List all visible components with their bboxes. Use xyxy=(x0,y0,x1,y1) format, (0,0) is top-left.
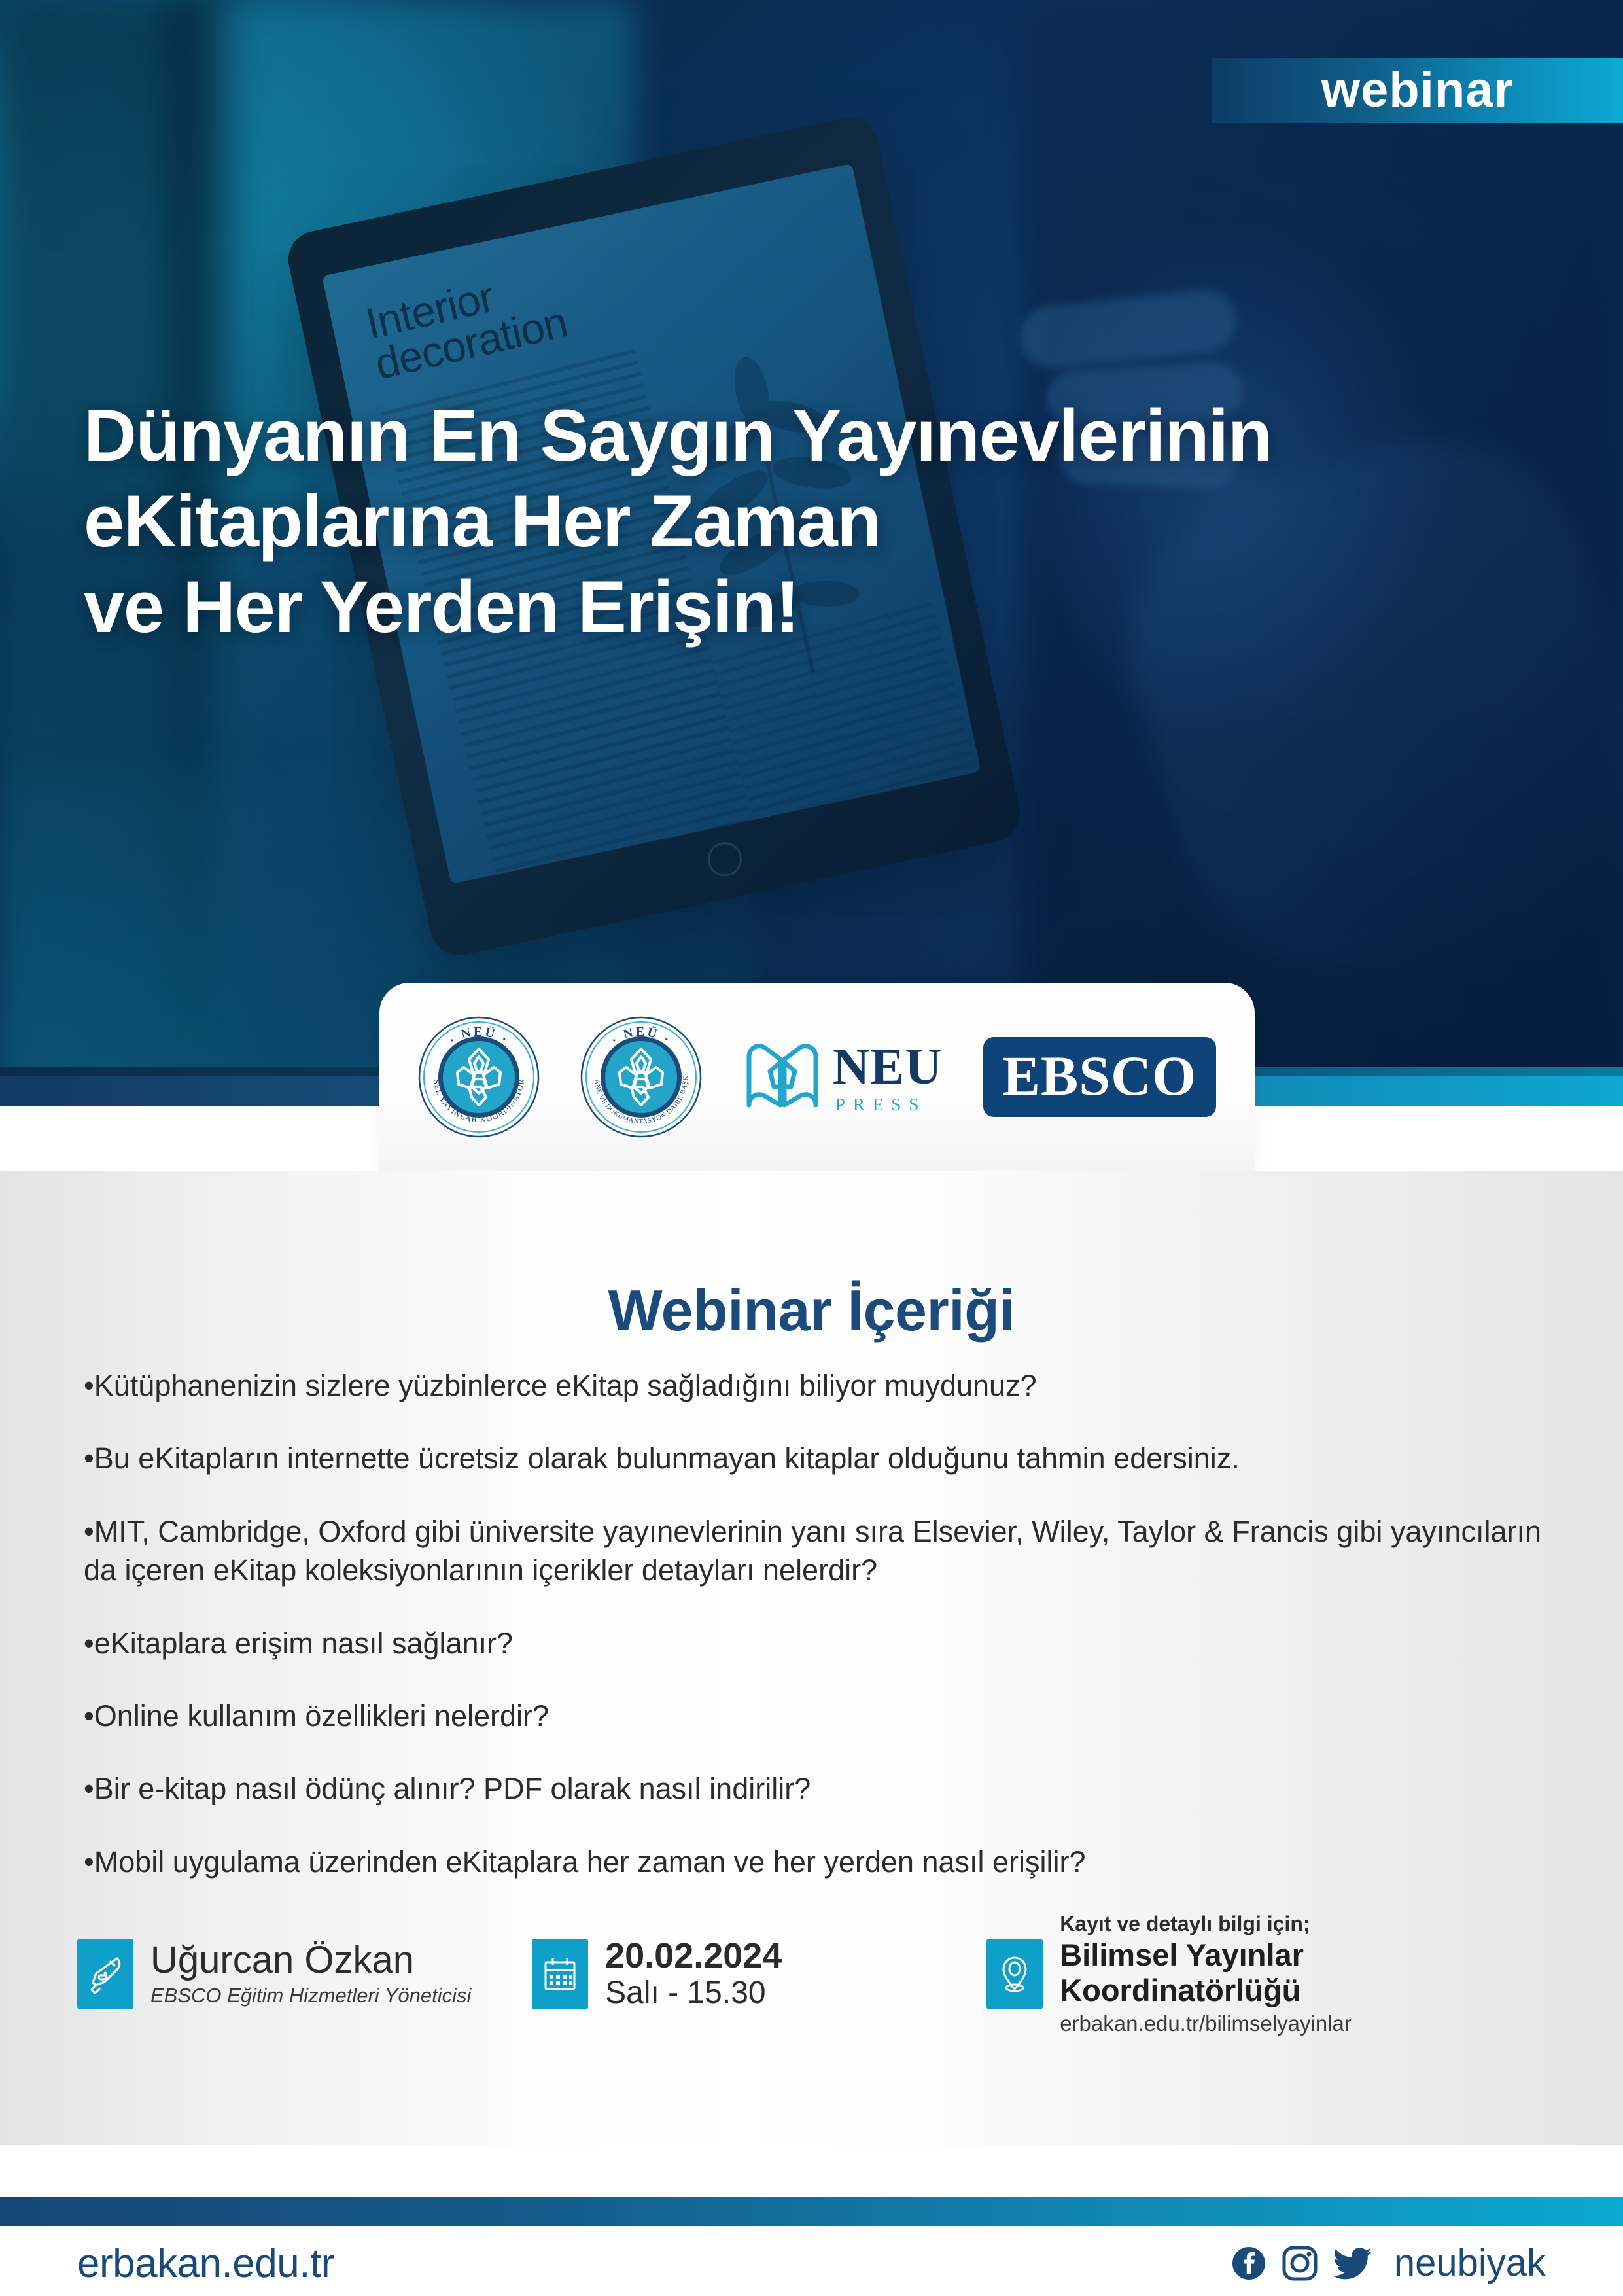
neu-press-name: NEU xyxy=(833,1041,943,1092)
event-time: Salı - 15.30 xyxy=(605,1976,782,2011)
list-item: •Bir e-kitap nasıl ödünç alınır? PDF ola… xyxy=(84,1769,1541,1808)
event-info-row: Uğurcan Özkan EBSCO Eğitim Hizmetleri Yö… xyxy=(77,1918,1549,2030)
facebook-icon[interactable] xyxy=(1230,2245,1267,2282)
list-item: •Mobil uygulama üzerinden eKitaplara her… xyxy=(84,1843,1541,1881)
registration-info: Kayıt ve detaylı bilgi için; Bilimsel Ya… xyxy=(986,1912,1549,2036)
logo-card: · NEÜ · BİLİMSEL YAYINLAR KOORDİNATÖRLÜĞ… xyxy=(379,983,1255,1171)
event-date: 20.02.2024 xyxy=(605,1937,782,1975)
speaker-role: EBSCO Eğitim Hizmetleri Yöneticisi xyxy=(150,1983,471,2007)
webinar-topics-list: •Kütüphanenizin sizlere yüzbinlerce eKit… xyxy=(84,1366,1541,1915)
ebsco-logo: EBSCO xyxy=(983,1037,1217,1117)
neu-press-subtitle: PRESS xyxy=(835,1096,943,1114)
webinar-badge-label: webinar xyxy=(1321,65,1514,115)
page-title: Dünyanın En Saygın Yayınevlerinin eKitap… xyxy=(84,393,1510,650)
registration-url[interactable]: erbakan.edu.tr/bilimselyayinlar xyxy=(1060,2011,1549,2037)
neu-library-documentation-seal: · NEÜ · KÜTÜPHANE VE DOKÜMANTASYON DAİRE… xyxy=(580,1016,702,1138)
registration-label: Kayıt ve detaylı bilgi için; xyxy=(1060,1912,1549,1936)
speaker-name: Uğurcan Özkan xyxy=(150,1941,471,1981)
neu-press-logo: NEU PRESS xyxy=(742,1037,943,1117)
calendar-icon xyxy=(532,1939,588,2009)
headline-line-1: Dünyanın En Saygın Yayınevlerinin xyxy=(84,393,1510,478)
section-title: Webinar İçeriği xyxy=(0,1277,1623,1344)
twitter-icon[interactable] xyxy=(1333,2245,1373,2282)
event-date-info: 20.02.2024 Salı - 15.30 xyxy=(532,1937,986,2010)
hero-section: Interior decoration xyxy=(0,0,1623,1106)
webinar-poster: Interior decoration xyxy=(0,0,1623,2296)
speaker-info: Uğurcan Özkan EBSCO Eğitim Hizmetleri Yö… xyxy=(77,1939,532,2009)
headline-line-3: ve Her Yerden Erişin! xyxy=(84,564,1510,650)
social-links: neubiyak xyxy=(1230,2244,1546,2282)
footer-divider-stripe xyxy=(0,2197,1623,2226)
footer: erbakan.edu.tr neubiyak xyxy=(0,2226,1623,2296)
ebsco-label: EBSCO xyxy=(1003,1048,1197,1104)
instagram-icon[interactable] xyxy=(1282,2245,1318,2282)
neu-scientific-publications-seal: · NEÜ · BİLİMSEL YAYINLAR KOORDİNATÖRLÜĞ… xyxy=(418,1016,540,1138)
list-item: •Online kullanım özellikleri nelerdir? xyxy=(84,1697,1541,1735)
headline-line-2: eKitaplarına Her Zaman xyxy=(84,478,1510,564)
location-pin-icon xyxy=(986,1939,1043,2009)
list-item: •MIT, Cambridge, Oxford gibi üniversite … xyxy=(84,1512,1541,1590)
open-book-icon xyxy=(742,1037,822,1117)
list-item: •Bu eKitapların internette ücretsiz olar… xyxy=(84,1439,1541,1477)
social-handle: neubiyak xyxy=(1394,2244,1546,2282)
registration-org: Bilimsel Yayınlar Koordinatörlüğü xyxy=(1060,1937,1549,2008)
content-section: Webinar İçeriği •Kütüphanenizin sizlere … xyxy=(0,1171,1623,2145)
webinar-badge: webinar xyxy=(1212,58,1623,123)
list-item: •Kütüphanenizin sizlere yüzbinlerce eKit… xyxy=(84,1366,1541,1405)
footer-website[interactable]: erbakan.edu.tr xyxy=(77,2240,334,2287)
list-item: •eKitaplara erişim nasıl sağlanır? xyxy=(84,1624,1541,1663)
microphone-icon xyxy=(77,1939,133,2009)
